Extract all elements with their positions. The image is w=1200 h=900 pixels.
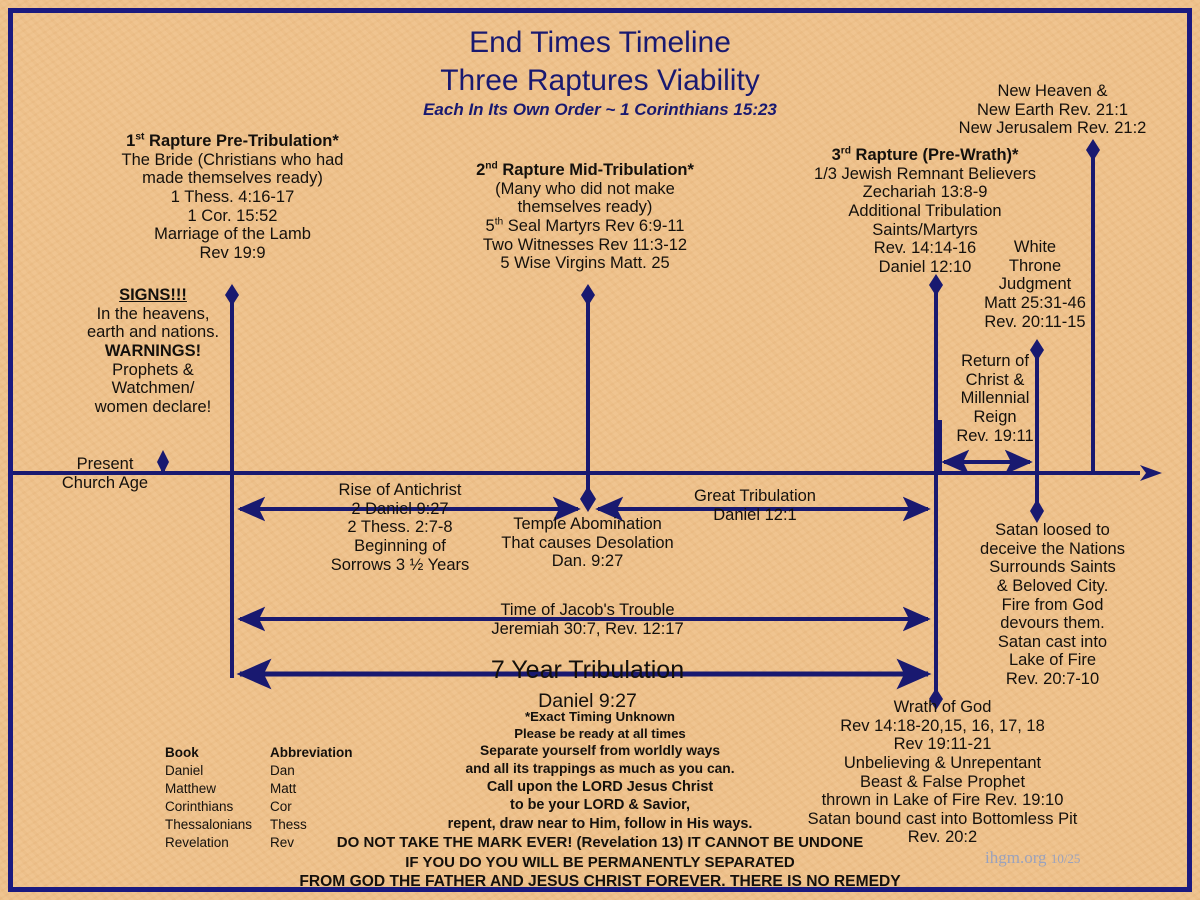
present-church-age-line: Present [40,455,170,474]
wrath-line: Rev 19:11-21 [775,735,1110,754]
antichrist-line: Sorrows 3 ½ Years [290,556,510,575]
return-of-christ-line: Return of [935,352,1055,371]
temple-line: That causes Desolation [480,534,695,553]
rapture-2-seal-line: 5th Seal Martyrs Rev 6:9-11 [430,217,740,236]
block-return-of-christ: Return of Christ & Millennial Reign Rev.… [935,352,1055,445]
table-row: Corinthians Cor [165,798,353,816]
satan-loosed-line: Fire from God [955,596,1150,615]
credit-site: ihgm.org [985,848,1047,867]
abbreviation-legend: Book Abbreviation Daniel Dan Matthew Mat… [165,744,353,852]
block-new-heaven: New Heaven & New Earth Rev. 21:1 New Jer… [920,82,1185,138]
rapture-1-line: Rev 19:9 [60,244,405,263]
wrath-line: Rev. 20:2 [775,828,1110,847]
present-church-age-line: Church Age [40,474,170,493]
satan-loosed-line: Satan cast into [955,633,1150,652]
antichrist-line: Beginning of [290,537,510,556]
satan-loosed-line: Lake of Fire [955,651,1150,670]
timeline-diagram: End Times Timeline Three Raptures Viabil… [0,0,1200,900]
temple-line: Dan. 9:27 [480,552,695,571]
new-heaven-line: New Heaven & [920,82,1185,101]
block-rise-of-antichrist: Rise of Antichrist 2 Daniel 9:27 2 Thess… [290,481,510,574]
legend-table: Book Abbreviation Daniel Dan Matthew Mat… [165,744,353,852]
legend-abbrev: Rev [270,834,353,852]
table-row: Matthew Matt [165,780,353,798]
signs-heading: SIGNS!!! [58,286,248,305]
return-of-christ-line: Christ & [935,371,1055,390]
antichrist-line: 2 Daniel 9:27 [290,500,510,519]
rapture-2-line: themselves ready) [430,198,740,217]
title-line-1: End Times Timeline [0,24,1200,62]
site-credit: ihgm.org 10/25 [985,848,1080,868]
new-heaven-line: New Earth Rev. 21:1 [920,101,1185,120]
wrath-line: Rev 14:18-20,15, 16, 17, 18 [775,717,1110,736]
block-signs-warnings: SIGNS!!! In the heavens, earth and natio… [58,286,248,416]
rapture-3-line: 1/3 Jewish Remnant Believers [780,165,1070,184]
legend-header-row: Book Abbreviation [165,744,353,762]
rapture-2-line: 5 Wise Virgins Matt. 25 [430,254,740,273]
warnings-line: Watchmen/ [58,379,248,398]
rapture-3-line: Additional Tribulation [780,202,1070,221]
satan-loosed-line: Satan loosed to [955,521,1150,540]
wrath-line: thrown in Lake of Fire Rev. 19:10 [775,791,1110,810]
warnings-line: Prophets & [58,361,248,380]
rapture-1-line: Marriage of the Lamb [60,225,405,244]
wrath-line: Unbelieving & Unrepentant [775,754,1110,773]
satan-loosed-line: devours them. [955,614,1150,633]
rapture-3-heading: 3rd Rapture (Pre-Wrath)* [780,146,1070,165]
table-row: Thessalonians Thess [165,816,353,834]
satan-loosed-line: Rev. 20:7-10 [955,670,1150,689]
white-throne-line: Rev. 20:11-15 [975,313,1095,332]
white-throne-line: White [975,238,1095,257]
warning-line: FROM GOD THE FATHER AND JESUS CHRIST FOR… [260,872,940,892]
legend-book: Daniel [165,762,270,780]
satan-loosed-line: Surrounds Saints [955,558,1150,577]
signs-line: earth and nations. [58,323,248,342]
warning-line: IF YOU DO YOU WILL BE PERMANENTLY SEPARA… [260,853,940,872]
white-throne-line: Judgment [975,275,1095,294]
legend-book: Matthew [165,780,270,798]
legend-abbrev: Dan [270,762,353,780]
white-throne-line: Throne [975,257,1095,276]
rapture-2-line: (Many who did not make [430,180,740,199]
legend-abbrev: Thess [270,816,353,834]
legend-abbrev: Cor [270,798,353,816]
wrath-line: Satan bound cast into Bottomless Pit [775,810,1110,829]
label-seven-year-tribulation: 7 Year Tribulation [395,656,780,684]
block-satan-loosed: Satan loosed to deceive the Nations Surr… [955,521,1150,689]
rapture-2-line: Two Witnesses Rev 11:3-12 [430,236,740,255]
warnings-heading: WARNINGS! [58,342,248,361]
rapture-3-line: Saints/Martyrs [780,221,1070,240]
return-of-christ-line: Rev. 19:11 [935,427,1055,446]
legend-book: Revelation [165,834,270,852]
legend-header-abbrev: Abbreviation [270,744,353,762]
credit-date: 10/25 [1051,851,1081,866]
legend-book: Corinthians [165,798,270,816]
rapture-1-line: 1 Thess. 4:16-17 [60,188,405,207]
satan-loosed-line: & Beloved City. [955,577,1150,596]
rapture-1-line: 1 Cor. 15:52 [60,207,405,226]
rapture-1-line: The Bride (Christians who had [60,151,405,170]
rapture-3-line: Zechariah 13:8-9 [780,183,1070,202]
legend-book: Thessalonians [165,816,270,834]
block-white-throne-judgment: White Throne Judgment Matt 25:31-46 Rev.… [975,238,1095,331]
signs-line: In the heavens, [58,305,248,324]
white-throne-line: Matt 25:31-46 [975,294,1095,313]
rapture-2-heading: 2nd Rapture Mid-Tribulation* [430,161,740,180]
legend-abbrev: Matt [270,780,353,798]
block-rapture-1: 1st Rapture Pre-Tribulation* The Bride (… [60,132,405,262]
antichrist-line: Rise of Antichrist [290,481,510,500]
block-wrath-of-god: Wrath of God Rev 14:18-20,15, 16, 17, 18… [775,698,1110,847]
great-tribulation-line: Great Tribulation [660,487,850,506]
return-of-christ-line: Millennial [935,389,1055,408]
return-of-christ-line: Reign [935,408,1055,427]
block-great-tribulation: Great Tribulation Daniel 12:1 [660,487,850,524]
wrath-line: Beast & False Prophet [775,773,1110,792]
rapture-1-heading: 1st Rapture Pre-Tribulation* [60,132,405,151]
jacobs-trouble-line: Time of Jacob's Trouble [400,601,775,620]
new-heaven-line: New Jerusalem Rev. 21:2 [920,119,1185,138]
label-present-church-age: Present Church Age [40,455,170,492]
table-row: Revelation Rev [165,834,353,852]
wrath-line: Wrath of God [775,698,1110,717]
table-row: Daniel Dan [165,762,353,780]
rapture-1-line: made themselves ready) [60,169,405,188]
jacobs-trouble-line: Jeremiah 30:7, Rev. 12:17 [400,620,775,639]
label-jacobs-trouble: Time of Jacob's Trouble Jeremiah 30:7, R… [400,601,775,638]
block-rapture-2: 2nd Rapture Mid-Tribulation* (Many who d… [430,161,740,273]
great-tribulation-line: Daniel 12:1 [660,506,850,525]
satan-loosed-line: deceive the Nations [955,540,1150,559]
legend-header-book: Book [165,744,270,762]
warnings-line: women declare! [58,398,248,417]
antichrist-line: 2 Thess. 2:7-8 [290,518,510,537]
